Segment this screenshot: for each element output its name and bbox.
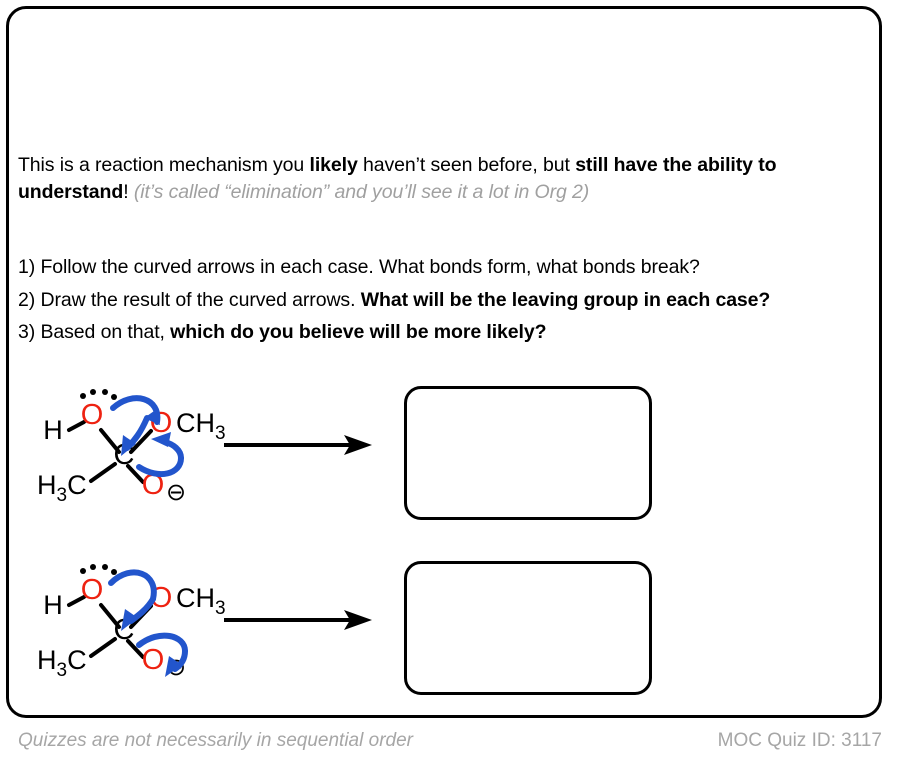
answer-box-2[interactable] bbox=[404, 561, 652, 695]
answer-box-1[interactable] bbox=[404, 386, 652, 520]
structure-2: H O O CH3 C H3C O ⊖ bbox=[35, 557, 225, 702]
atom-label-methyl-1: H3C bbox=[37, 470, 87, 506]
atom-label-hydrogen-2: H bbox=[43, 590, 63, 620]
intro-bold-likely: likely bbox=[310, 154, 358, 176]
atom-label-methyl-2: H3C bbox=[37, 645, 87, 681]
question-3-bold: which do you believe will be more likely… bbox=[170, 321, 546, 343]
intro-text-part1: This is a reaction mechanism you bbox=[18, 154, 310, 176]
reaction-row-2: H O O CH3 C H3C O ⊖ bbox=[0, 557, 876, 717]
subscript-3-methyl-1: 3 bbox=[57, 485, 68, 506]
atom-label-anion-oxygen-2: O bbox=[142, 644, 165, 676]
question-1-number: 1) bbox=[18, 256, 40, 278]
intro-text-part3: ! bbox=[123, 181, 134, 203]
questions-list: 1) Follow the curved arrows in each case… bbox=[18, 251, 874, 349]
question-3-number: 3) bbox=[18, 321, 40, 343]
question-item-2: 2) Draw the result of the curved arrows.… bbox=[18, 284, 874, 317]
footer-quiz-id: MOC Quiz ID: 3117 bbox=[718, 730, 882, 752]
structure-1: H O O CH3 C H3C O ⊖ bbox=[35, 382, 225, 527]
reaction-arrow-2 bbox=[222, 607, 377, 633]
curved-arrow-anionO-to-esterO-1 bbox=[139, 458, 181, 474]
intro-text-part2: haven’t seen before, but bbox=[358, 154, 575, 176]
atom-label-ester-methyl-2: CH3 bbox=[176, 583, 226, 619]
intro-paragraph: This is a reaction mechanism you likely … bbox=[18, 152, 874, 206]
question-2-bold: What will be the leaving group in each c… bbox=[361, 289, 771, 311]
bond-c-to-methyl bbox=[91, 464, 115, 481]
footer: Quizzes are not necessarily in sequentia… bbox=[18, 730, 882, 758]
charge-symbol-negative-1: ⊖ bbox=[166, 479, 186, 506]
bond-c-to-methyl-2 bbox=[91, 639, 115, 656]
atom-label-hydrogen-1: H bbox=[43, 415, 63, 445]
footer-note: Quizzes are not necessarily in sequentia… bbox=[18, 730, 413, 752]
question-item-1: 1) Follow the curved arrows in each case… bbox=[18, 251, 874, 284]
curved-arrow-lonepair-to-carbon-2 bbox=[111, 572, 154, 599]
atom-label-ester-methyl-1: CH3 bbox=[176, 408, 226, 444]
question-3-text: Based on that, bbox=[40, 321, 170, 343]
question-item-3: 3) Based on that, which do you believe w… bbox=[18, 316, 874, 349]
question-2-number: 2) bbox=[18, 289, 40, 311]
atom-label-hydroxyl-oxygen-2: O bbox=[81, 574, 104, 606]
subscript-3-methyl-2: 3 bbox=[57, 660, 68, 681]
atom-label-hydroxyl-oxygen-1: O bbox=[81, 399, 104, 431]
question-2-text: Draw the result of the curved arrows. bbox=[40, 289, 360, 311]
reaction-row-1: H O O CH3 C H3C O ⊖ bbox=[0, 382, 876, 542]
question-1-text: Follow the curved arrows in each case. W… bbox=[40, 256, 699, 278]
intro-note-elimination: (it’s called “elimination” and you’ll se… bbox=[134, 181, 589, 203]
reaction-arrow-1 bbox=[222, 432, 377, 458]
